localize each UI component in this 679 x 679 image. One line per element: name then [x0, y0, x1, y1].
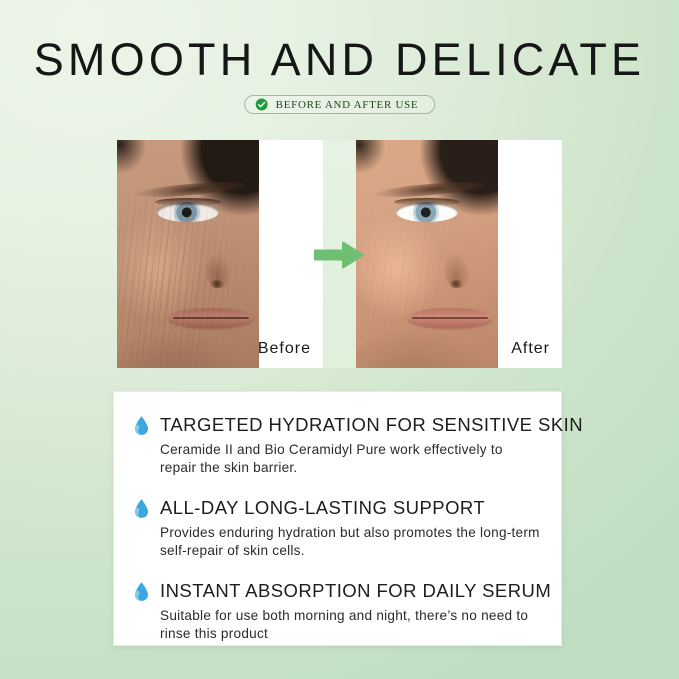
- after-label: After: [511, 340, 550, 358]
- water-drop-icon: [134, 498, 149, 519]
- page-title: SMOOTH AND DELICATE: [0, 34, 679, 86]
- product-infographic: SMOOTH AND DELICATE BEFORE AND AFTER USE…: [0, 0, 679, 679]
- feature-title: ALL-DAY LONG-LASTING SUPPORT: [160, 497, 485, 519]
- feature-list-card: TARGETED HYDRATION FOR SENSITIVE SKIN Ce…: [113, 391, 562, 646]
- water-drop-icon: [134, 415, 149, 436]
- before-after-comparison: Before After: [117, 140, 562, 368]
- nostril: [448, 280, 464, 288]
- feature-title: TARGETED HYDRATION FOR SENSITIVE SKIN: [160, 414, 583, 436]
- lips: [169, 308, 253, 328]
- feature-item: TARGETED HYDRATION FOR SENSITIVE SKIN Ce…: [134, 414, 541, 477]
- badge-label: BEFORE AND AFTER USE: [276, 99, 419, 111]
- feature-item: INSTANT ABSORPTION FOR DAILY SERUM Suita…: [134, 580, 541, 643]
- feature-body: Suitable for use both morning and night,…: [160, 607, 541, 643]
- face-image: [117, 140, 259, 368]
- feature-body: Ceramide II and Bio Ceramidyl Pure work …: [160, 441, 541, 477]
- nostril: [209, 280, 225, 288]
- feature-body: Provides enduring hydration but also pro…: [160, 524, 541, 560]
- feature-item: ALL-DAY LONG-LASTING SUPPORT Provides en…: [134, 497, 541, 560]
- feature-heading: TARGETED HYDRATION FOR SENSITIVE SKIN: [134, 414, 541, 436]
- face-image: [356, 140, 498, 368]
- water-drop-icon: [134, 581, 149, 602]
- feature-heading: ALL-DAY LONG-LASTING SUPPORT: [134, 497, 541, 519]
- after-photo: [356, 140, 498, 368]
- lips: [408, 308, 492, 328]
- before-panel: Before: [117, 140, 323, 368]
- arrow-right-icon: [313, 240, 365, 270]
- after-panel: After: [356, 140, 562, 368]
- feature-title: INSTANT ABSORPTION FOR DAILY SERUM: [160, 580, 551, 602]
- check-circle-icon: [255, 98, 268, 111]
- before-label: Before: [258, 340, 311, 358]
- feature-heading: INSTANT ABSORPTION FOR DAILY SERUM: [134, 580, 541, 602]
- eye: [396, 202, 458, 222]
- before-photo: [117, 140, 259, 368]
- eye: [157, 202, 219, 222]
- before-after-badge: BEFORE AND AFTER USE: [244, 95, 436, 114]
